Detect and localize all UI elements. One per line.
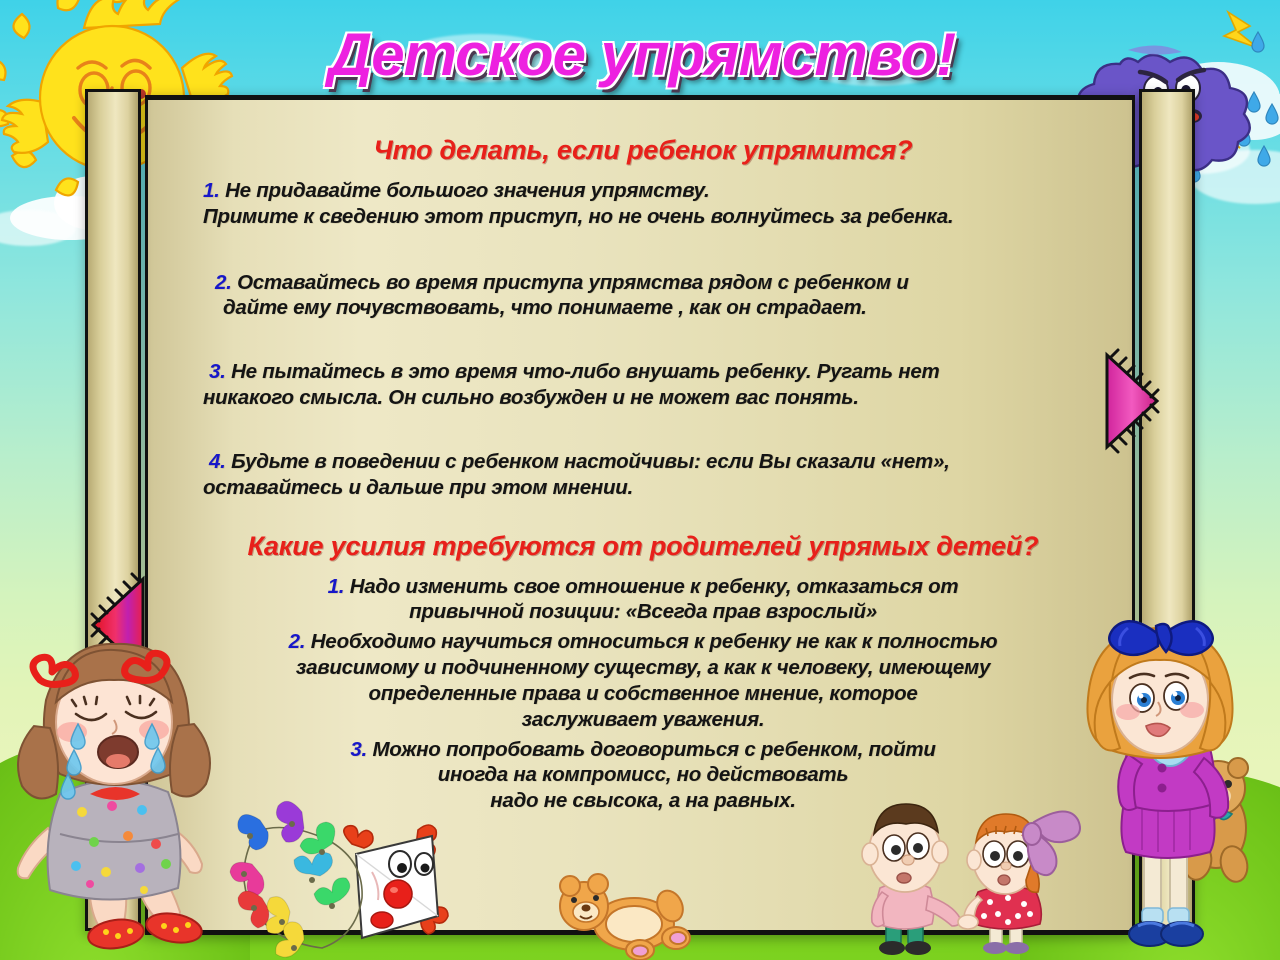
list-text-line: оставайтесь и дальше при этом мнении. [203, 475, 633, 501]
list-number: 3. [209, 360, 226, 383]
kids-pair-icon [862, 796, 1082, 960]
section-1-item-3: 3. Не пытайтесь в это время что-либо вну… [203, 359, 1083, 411]
section-1-item-4: 4. Будьте в поведении с ребенком настойч… [203, 449, 1083, 501]
section-2-item-2: 2. Необходимо научиться относиться к реб… [203, 629, 1083, 732]
list-text-line: Оставайтесь во время приступа упрямства … [237, 271, 909, 294]
paper-bows-icon [226, 802, 386, 960]
list-text-line: Надо изменить свое отношение к ребенку, … [350, 575, 959, 598]
list-text-line: Можно попробовать договориться с ребенко… [372, 738, 935, 761]
list-text-line: привычной позиции: «Всегда прав взрослый… [409, 600, 877, 623]
list-text-line: определенные права и собственное мнение,… [368, 682, 917, 705]
section-2-item-1: 1. Надо изменить свое отношение к ребенк… [203, 574, 1083, 626]
list-text-line: заслуживает уважения. [522, 708, 765, 731]
list-number: 1. [203, 179, 220, 202]
list-text-line: Не пытайтесь в это время что-либо внушат… [231, 360, 939, 383]
list-text-line: никакого смысла. Он сильно возбужден и н… [203, 385, 859, 411]
poster-canvas: Что делать, если ребенок упрямится? 1. Н… [0, 0, 1280, 960]
list-number: 3. [350, 738, 367, 761]
list-text-line: надо не свысока, а на равных. [490, 789, 795, 812]
list-number: 2. [215, 271, 232, 294]
list-text-line: Примите к сведению этот приступ, но не о… [203, 205, 953, 228]
section-2-heading: Какие усилия требуются от родителей упря… [203, 531, 1083, 562]
section-1-item-1: 1. Не придавайте большого значения упрям… [203, 178, 1083, 230]
list-text-line: дайте ему почувствовать, что понимаете ,… [215, 295, 867, 321]
list-number: 1. [328, 575, 345, 598]
list-text-line: иногда на компромисс, но действовать [438, 763, 849, 786]
teddy-bear-icon [548, 862, 696, 958]
list-number: 2. [289, 630, 306, 653]
list-text-line: Будьте в поведении с ребенком настойчивы… [231, 450, 950, 473]
girl-with-bow-icon [1058, 612, 1280, 960]
crying-girl-icon [0, 628, 232, 960]
section-1-item-2: 2. Оставайтесь во время приступа упрямст… [203, 270, 1083, 322]
list-text-line: зависимому и подчиненному существу, а ка… [296, 656, 990, 679]
list-text-line: Необходимо научиться относиться к ребенк… [311, 630, 998, 653]
list-number: 4. [209, 450, 226, 473]
section-1-heading: Что делать, если ребенок упрямится? [203, 135, 1083, 166]
list-text-line: Не придавайте большого значения упрямств… [225, 179, 709, 202]
cloud-icon [0, 210, 76, 246]
page-title: Детское упрямство! [212, 18, 1072, 94]
